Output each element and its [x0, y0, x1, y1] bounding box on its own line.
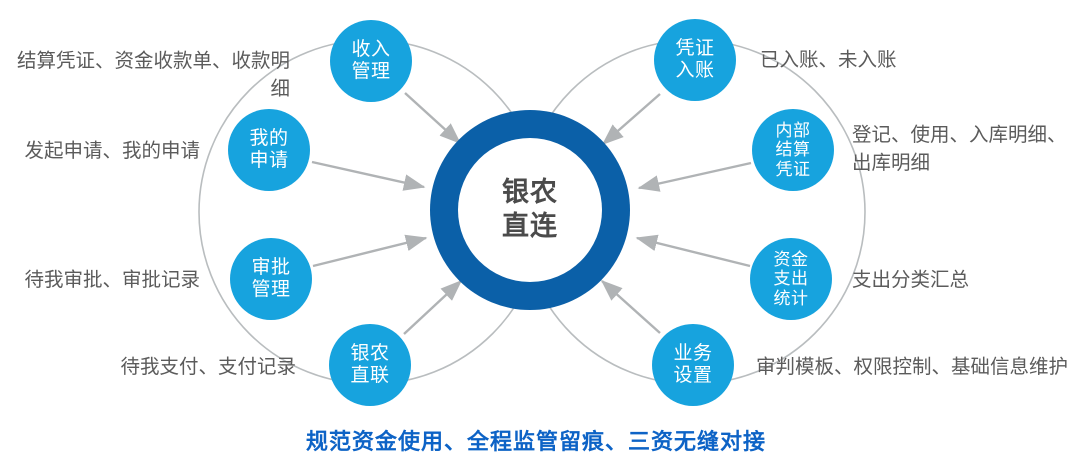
desc-voucher-entry: 已入账、未入账	[760, 46, 897, 74]
center-hub-inner: 银农 直连	[458, 138, 602, 282]
desc-bank-direct: 待我支付、支付记录	[120, 353, 296, 381]
desc-approval-management: 待我审批、审批记录	[24, 266, 200, 294]
arrow-voucher-entry	[603, 94, 660, 144]
node-my-application[interactable]: 我的 申请	[228, 109, 310, 191]
arrow-bank-direct	[404, 281, 461, 334]
node-business-settings[interactable]: 业务 设置	[652, 324, 734, 406]
footer-caption: 规范资金使用、全程监管留痕、三资无缝对接	[0, 424, 1072, 456]
node-bank-direct[interactable]: 银农 直联	[329, 324, 411, 406]
arrow-expense-statistics	[637, 238, 750, 266]
desc-income-management: 结算凭证、资金收款单、收款明细	[0, 47, 290, 104]
node-label: 审批 管理	[251, 257, 290, 301]
arrow-approval-management	[313, 238, 426, 266]
arrow-internal-voucher	[639, 163, 751, 188]
diagram-canvas: 银农 直连 收入 管理 我的 申请 审批 管理 银农 直联 凭证 入账 内部 结…	[0, 0, 1072, 471]
arrow-business-settings	[602, 281, 660, 333]
center-hub: 银农 直连	[430, 110, 630, 310]
desc-internal-voucher: 登记、使用、入库明细、 出库明细	[852, 121, 1067, 178]
node-label: 银农 直联	[350, 343, 389, 387]
node-label: 凭证 入账	[675, 38, 714, 82]
center-hub-label: 银农 直连	[502, 176, 558, 244]
node-label: 我的 申请	[249, 128, 288, 172]
node-label: 收入 管理	[351, 39, 390, 83]
desc-business-settings: 审判模板、权限控制、基础信息维护	[756, 353, 1068, 381]
node-label: 业务 设置	[673, 343, 712, 387]
desc-my-application: 发起申请、我的申请	[24, 137, 200, 165]
node-expense-statistics[interactable]: 资金 支出 统计	[750, 238, 832, 320]
node-income-management[interactable]: 收入 管理	[330, 20, 412, 102]
node-internal-voucher[interactable]: 内部 结算 凭证	[752, 109, 834, 191]
node-label: 内部 结算 凭证	[776, 121, 811, 179]
node-approval-management[interactable]: 审批 管理	[230, 238, 312, 320]
node-voucher-entry[interactable]: 凭证 入账	[654, 19, 736, 101]
arrow-income-management	[405, 93, 460, 143]
arrow-my-application	[312, 162, 424, 187]
desc-expense-statistics: 支出分类汇总	[852, 266, 969, 294]
node-label: 资金 支出 统计	[774, 250, 809, 308]
